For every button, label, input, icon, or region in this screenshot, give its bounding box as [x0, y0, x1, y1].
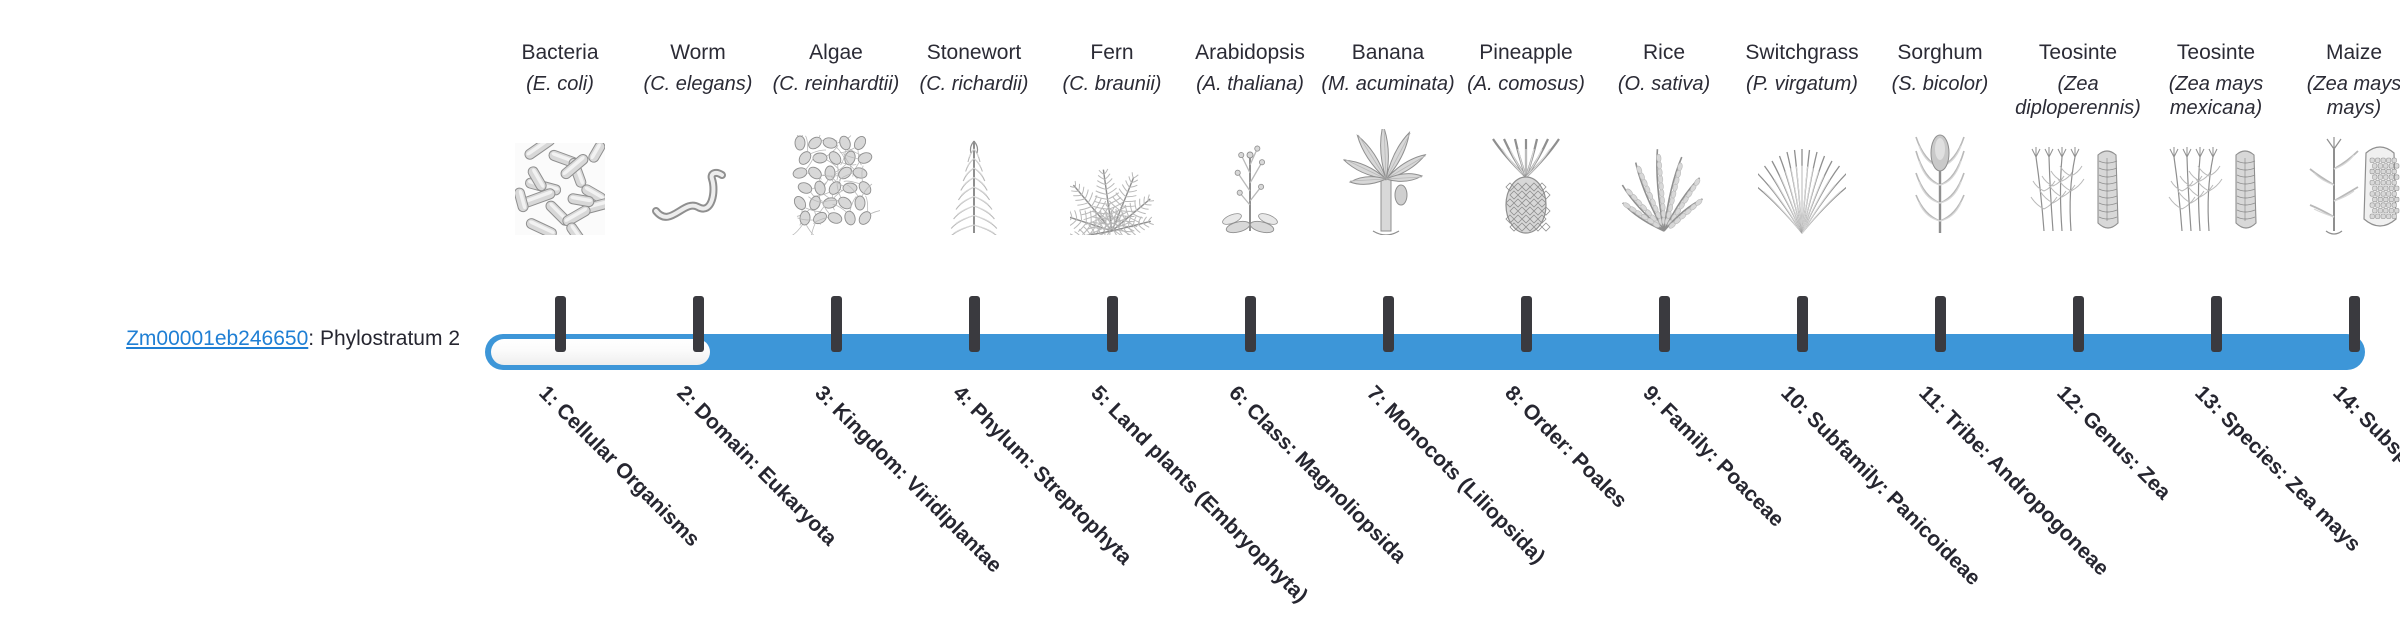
organism-common-name: Pineapple	[1451, 40, 1601, 68]
tick-mark-4	[969, 296, 980, 352]
organism-latin-name: (C. elegans)	[623, 72, 773, 126]
maize-icon	[2279, 130, 2400, 235]
organism-common-name: Switchgrass	[1727, 40, 1877, 68]
organism-latin-name: (A. thaliana)	[1175, 72, 1325, 126]
organism-latin-name: (S. bicolor)	[1865, 72, 2015, 126]
organism-common-name: Bacteria	[485, 40, 635, 68]
organism-common-name: Maize	[2279, 40, 2400, 68]
organism-common-name: Fern	[1037, 40, 1187, 68]
organism-column-arabidopsis: Arabidopsis(A. thaliana)	[1175, 40, 1325, 235]
rank-label-11: 11: Tribe: Andropogoneae	[1913, 380, 2165, 632]
tick-mark-3	[831, 296, 842, 352]
organism-latin-name: (C. braunii)	[1037, 72, 1187, 126]
rank-label-2: 2: Domain: Eukaryota	[671, 380, 923, 632]
organism-common-name: Rice	[1589, 40, 1739, 68]
rank-text: Order: Poales	[1518, 399, 1632, 513]
rank-label-12: 12: Genus: Zea	[2051, 380, 2303, 632]
tick-mark-7	[1383, 296, 1394, 352]
tick-mark-9	[1659, 296, 1670, 352]
organism-column-algae: Algae(C. reinhardtii)	[761, 40, 911, 235]
phylostratigraphy-timeline: Zm00001eb246650: Phylostratum 2 Bacteria…	[0, 0, 2400, 580]
rank-number: 12:	[2052, 381, 2090, 419]
tick-mark-8	[1521, 296, 1532, 352]
organism-common-name: Worm	[623, 40, 773, 68]
organism-common-name: Algae	[761, 40, 911, 68]
tick-mark-1	[555, 296, 566, 352]
worm-icon	[623, 130, 773, 235]
organism-common-name: Teosinte	[2003, 40, 2153, 68]
organism-latin-name: (C. reinhardtii)	[761, 72, 911, 126]
timeline-track-area: Bacteria(E. coli)Worm(C. elegans)Algae(C…	[0, 0, 2400, 580]
organism-column-maize: Maize(Zea mays mays)	[2279, 40, 2400, 235]
rank-label-7: 7: Monocots (Liliopsida)	[1361, 380, 1613, 632]
organism-latin-name: (P. virgatum)	[1727, 72, 1877, 126]
phylostratum-bar-unfilled	[491, 339, 710, 365]
rank-label-8: 8: Order: Poales	[1499, 380, 1751, 632]
organism-column-banana: Banana(M. acuminata)	[1313, 40, 1463, 235]
rank-label-10: 10: Subfamily: Panicoideae	[1775, 380, 2027, 632]
tick-mark-11	[1935, 296, 1946, 352]
banana-icon	[1313, 130, 1463, 235]
organism-column-teosinte: Teosinte(Zea diploperennis)	[2003, 40, 2153, 235]
rank-label-5: 5: Land plants (Embryophyta)	[1085, 380, 1337, 632]
fern-icon	[1037, 130, 1187, 235]
organism-column-bacteria: Bacteria(E. coli)	[485, 40, 635, 235]
rank-label-4: 4: Phylum: Streptophyta	[947, 380, 1199, 632]
rank-number: 14:	[2328, 381, 2366, 419]
pineapple-icon	[1451, 130, 1601, 235]
organism-column-fern: Fern(C. braunii)	[1037, 40, 1187, 235]
rank-label-1: 1: Cellular Organisms	[533, 380, 785, 632]
rank-label-3: 3: Kingdom: Viridiplantae	[809, 380, 1061, 632]
rice-icon	[1589, 130, 1739, 235]
organism-column-stonewort: Stonewort(C. richardii)	[899, 40, 1049, 235]
organism-column-switchgrass: Switchgrass(P. virgatum)	[1727, 40, 1877, 235]
organism-latin-name: (Zea mays mays)	[2279, 72, 2400, 126]
rank-text: Family: Poaceae	[1656, 399, 1789, 532]
rank-label-6: 6: Class: Magnoliopsida	[1223, 380, 1475, 632]
sorghum-icon	[1865, 130, 2015, 235]
organism-common-name: Stonewort	[899, 40, 1049, 68]
organism-column-teosinte: Teosinte(Zea mays mexicana)	[2141, 40, 2291, 235]
organism-column-worm: Worm(C. elegans)	[623, 40, 773, 235]
organism-common-name: Arabidopsis	[1175, 40, 1325, 68]
rank-text: Domain: Eukaryota	[690, 399, 842, 551]
rank-text: Cellular Organisms	[552, 399, 704, 551]
organism-latin-name: (M. acuminata)	[1313, 72, 1463, 126]
organism-latin-name: (Zea diploperennis)	[2003, 72, 2153, 126]
tick-mark-13	[2211, 296, 2222, 352]
teosinte-icon	[2141, 130, 2291, 235]
switchgrass-icon	[1727, 130, 1877, 235]
rank-text: Genus: Zea	[2078, 407, 2175, 504]
rank-number: 11:	[1914, 381, 1951, 418]
rank-text: Species: Zea mays	[2216, 407, 2365, 556]
organism-column-sorghum: Sorghum(S. bicolor)	[1865, 40, 2015, 235]
organism-latin-name: (E. coli)	[485, 72, 635, 126]
tick-mark-5	[1107, 296, 1118, 352]
teosinte-icon	[2003, 130, 2153, 235]
organism-latin-name: (O. sativa)	[1589, 72, 1739, 126]
algae-icon	[761, 130, 911, 235]
tick-mark-14	[2349, 296, 2360, 352]
rank-number: 10:	[1776, 381, 1814, 419]
bacteria-icon	[485, 130, 635, 235]
organism-latin-name: (C. richardii)	[899, 72, 1049, 126]
organism-latin-name: (A. comosus)	[1451, 72, 1601, 126]
rank-number: 13:	[2190, 381, 2228, 419]
organism-common-name: Teosinte	[2141, 40, 2291, 68]
organism-latin-name: (Zea mays mexicana)	[2141, 72, 2291, 126]
tick-mark-2	[693, 296, 704, 352]
organism-common-name: Banana	[1313, 40, 1463, 68]
rank-label-9: 9: Family: Poaceae	[1637, 380, 1889, 632]
organism-common-name: Sorghum	[1865, 40, 2015, 68]
organism-column-rice: Rice(O. sativa)	[1589, 40, 1739, 235]
organism-column-pineapple: Pineapple(A. comosus)	[1451, 40, 1601, 235]
stonewort-icon	[899, 130, 1049, 235]
tick-mark-10	[1797, 296, 1808, 352]
tick-mark-12	[2073, 296, 2084, 352]
arabidopsis-icon	[1175, 130, 1325, 235]
tick-mark-6	[1245, 296, 1256, 352]
